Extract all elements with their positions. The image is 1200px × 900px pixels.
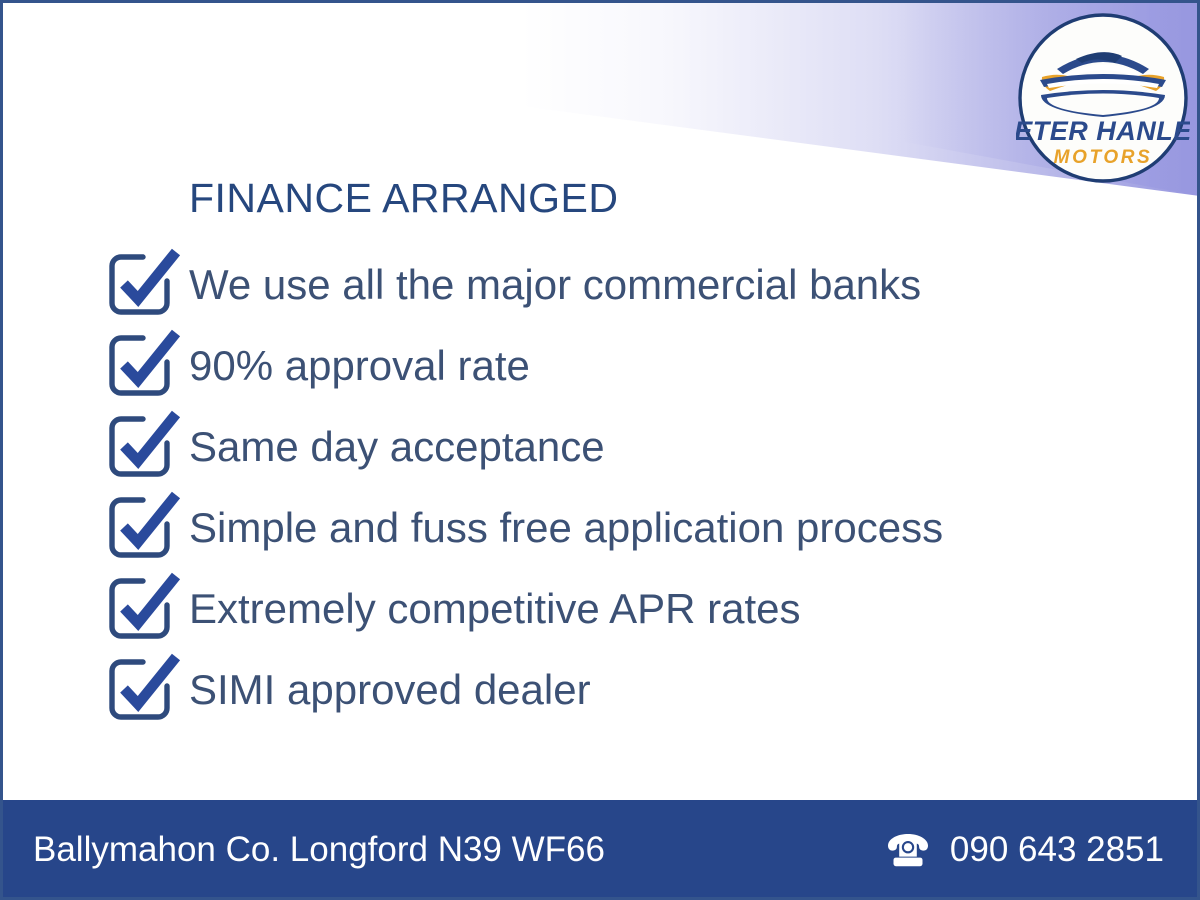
benefits-list: We use all the major commercial banks 90… — [107, 243, 1107, 729]
peter-hanley-motors-logo-icon: PETER HANLEY MOTORS — [1016, 11, 1190, 185]
list-item: SIMI approved dealer — [107, 648, 1107, 729]
dealer-logo[interactable]: PETER HANLEY MOTORS — [1016, 11, 1190, 185]
list-item-label: SIMI approved dealer — [189, 669, 591, 712]
list-item-label: 90% approval rate — [189, 345, 530, 388]
phone-contact[interactable]: 090 643 2851 — [885, 830, 1164, 870]
telephone-icon-glyph — [885, 832, 931, 868]
logo-brand-line2: MOTORS — [1054, 147, 1153, 168]
list-item-label: Same day acceptance — [189, 426, 605, 469]
list-item-label: Extremely competitive APR rates — [189, 588, 801, 631]
logo-brand-line1: PETER HANLEY — [1016, 116, 1190, 146]
list-item: Extremely competitive APR rates — [107, 567, 1107, 648]
checkbox-checked-icon — [107, 328, 181, 402]
page-title: FINANCE ARRANGED — [189, 175, 618, 222]
checkbox-checked-icon — [107, 409, 181, 483]
list-item: Simple and fuss free application process — [107, 486, 1107, 567]
checkbox-checked-icon — [107, 652, 181, 726]
checkbox-checked-icon — [107, 490, 181, 564]
telephone-icon — [885, 832, 931, 868]
list-item: Same day acceptance — [107, 405, 1107, 486]
list-item: 90% approval rate — [107, 324, 1107, 405]
advert-canvas: PETER HANLEY MOTORS FINANCE ARRANGED We … — [0, 0, 1200, 900]
dealer-phone-number: 090 643 2851 — [950, 830, 1164, 870]
checkbox-checked-icon — [107, 247, 181, 321]
checkbox-checked-icon — [107, 571, 181, 645]
list-item-label: Simple and fuss free application process — [189, 507, 943, 550]
list-item-label: We use all the major commercial banks — [189, 264, 921, 307]
dealer-address: Ballymahon Co. Longford N39 WF66 — [33, 830, 605, 870]
list-item: We use all the major commercial banks — [107, 243, 1107, 324]
contact-footer-bar: Ballymahon Co. Longford N39 WF66 090 643… — [0, 800, 1200, 900]
